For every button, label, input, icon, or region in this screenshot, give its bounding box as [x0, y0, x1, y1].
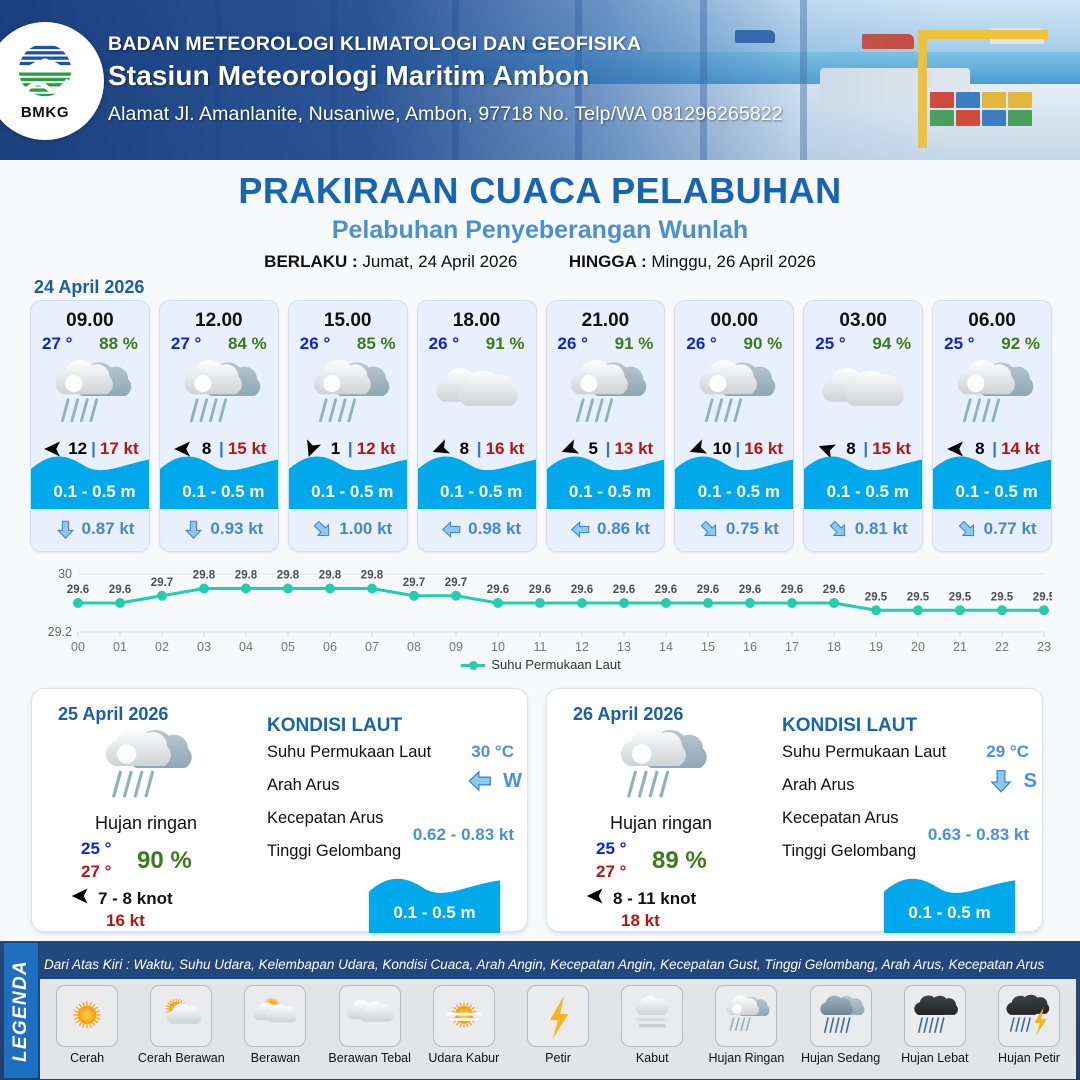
wave-height: 0.1 - 0.5 m	[31, 482, 150, 502]
hujan-sedang-icon	[814, 993, 868, 1039]
card-temperature: 27 °	[42, 334, 72, 354]
card-weather-icon	[160, 356, 278, 436]
hourly-card[interactable]: 12.0027 °84 %8|15 kt0.1 - 0.5 m0.93 kt	[159, 300, 279, 552]
legend-item: Hujan Ringan	[699, 985, 793, 1065]
svg-text:29.6: 29.6	[67, 584, 89, 596]
hujan-ringan-icon	[300, 358, 396, 434]
legend-icon-box	[433, 985, 495, 1047]
sst-value: 29 °C	[986, 742, 1029, 762]
legend-item: Berawan Tebal	[323, 985, 417, 1065]
daily-wave-height: 0.1 - 0.5 m	[347, 903, 522, 923]
sea-row-current-direction: Arah ArusS	[775, 770, 1043, 803]
svg-text:29.6: 29.6	[487, 584, 509, 596]
legend-icon-box	[904, 985, 966, 1047]
daily-condition: Hujan ringan	[32, 813, 260, 834]
wave-height: 0.1 - 0.5 m	[289, 482, 408, 502]
card-humidity: 84 %	[228, 334, 267, 354]
current-speed-label: Kecepatan Arus	[267, 809, 384, 828]
wave-height: 0.1 - 0.5 m	[547, 482, 666, 502]
legend-item: Hujan Lebat	[888, 985, 982, 1065]
current-direction-wrap: S	[988, 768, 1037, 794]
card-current: 0.98 kt	[418, 513, 537, 545]
legend-note: Dari Atas Kiri : Waktu, Suhu Udara, Kele…	[44, 957, 1074, 972]
card-temp-hum: 26 °91 %	[547, 332, 665, 354]
card-wave: 0.1 - 0.5 m	[289, 449, 408, 509]
current-speed: 0.81 kt	[855, 519, 908, 539]
svg-text:18: 18	[827, 640, 841, 654]
card-wave: 0.1 - 0.5 m	[933, 449, 1052, 509]
daily-date: 26 April 2026	[573, 704, 683, 725]
legend-item-label: Hujan Lebat	[901, 1051, 968, 1065]
sea-row-sst: Suhu Permukaan Laut29 °C	[775, 737, 1043, 770]
validity-row: BERLAKU : Jumat, 24 April 2026 HINGGA : …	[0, 252, 1080, 272]
card-current: 0.87 kt	[31, 513, 150, 545]
berawan-tebal-icon	[343, 993, 397, 1039]
card-time: 03.00	[804, 310, 922, 332]
card-wave: 0.1 - 0.5 m	[418, 449, 537, 509]
current-direction-arrow	[699, 518, 720, 541]
current-direction-arrow	[467, 768, 493, 794]
legend-item-label: Hujan Ringan	[709, 1051, 785, 1065]
hujan-lebat-icon	[908, 993, 962, 1039]
legend-item: Cerah Berawan	[134, 985, 228, 1065]
card-time: 06.00	[933, 310, 1051, 332]
svg-text:29.6: 29.6	[781, 584, 803, 596]
svg-text:29.7: 29.7	[445, 577, 467, 589]
kabut-icon	[625, 993, 679, 1039]
svg-text:16: 16	[743, 640, 757, 654]
wave-height: 0.1 - 0.5 m	[160, 482, 279, 502]
current-speed: 0.93 kt	[210, 519, 263, 539]
card-wave: 0.1 - 0.5 m	[31, 449, 150, 509]
legend-icon-box	[715, 985, 777, 1047]
berlaku-label: BERLAKU :	[264, 252, 358, 271]
daily-humidity: 89 %	[652, 847, 707, 875]
current-direction-label: Arah Arus	[267, 776, 339, 795]
berawan-tebal-icon	[429, 358, 525, 434]
legend-icon-box	[339, 985, 401, 1047]
svg-text:14: 14	[659, 640, 673, 654]
daily-sea-conditions: KONDISI LAUTSuhu Permukaan Laut29 °CArah…	[775, 715, 1043, 927]
legend-item-label: Hujan Petir	[998, 1051, 1060, 1065]
svg-text:29.5: 29.5	[1033, 591, 1052, 603]
current-speed: 0.86 kt	[597, 519, 650, 539]
legend-icon-box	[810, 985, 872, 1047]
daily-date: 25 April 2026	[58, 704, 168, 725]
page-title: PRAKIRAAN CUACA PELABUHAN	[0, 170, 1080, 212]
daily-wave-block: 0.1 - 0.5 m	[347, 871, 522, 933]
current-speed: 1.00 kt	[339, 519, 392, 539]
hourly-card[interactable]: 18.0026 °91 %8|16 kt0.1 - 0.5 m0.98 kt	[417, 300, 537, 552]
svg-text:12: 12	[575, 640, 589, 654]
hourly-card[interactable]: 15.0026 °85 %1|12 kt0.1 - 0.5 m1.00 kt	[288, 300, 408, 552]
legend-item: Hujan Sedang	[794, 985, 888, 1065]
svg-text:23: 23	[1037, 640, 1051, 654]
card-temp-hum: 26 °91 %	[418, 332, 536, 354]
header-address: Alamat Jl. Amanlanite, Nusaniwe, Ambon, …	[108, 103, 783, 126]
current-speed: 0.77 kt	[984, 519, 1037, 539]
svg-text:29.5: 29.5	[907, 591, 930, 603]
current-direction-value: W	[503, 770, 522, 793]
card-humidity: 91 %	[486, 334, 525, 354]
daily-gust: 18 kt	[621, 911, 660, 931]
svg-text:00: 00	[71, 640, 85, 654]
svg-text:29.2: 29.2	[48, 625, 72, 639]
card-temperature: 27 °	[171, 334, 201, 354]
card-current: 0.75 kt	[675, 513, 794, 545]
legend-icon-box	[998, 985, 1060, 1047]
legend-item: Cerah	[40, 985, 134, 1065]
card-humidity: 94 %	[872, 334, 911, 354]
legend-icon-box	[244, 985, 306, 1047]
svg-text:05: 05	[281, 640, 295, 654]
wave-height: 0.1 - 0.5 m	[418, 482, 537, 502]
sst-chart-legend: Suhu Permukaan Laut	[30, 657, 1052, 672]
svg-text:29.6: 29.6	[571, 584, 593, 596]
svg-text:21: 21	[953, 640, 967, 654]
card-temp-hum: 27 °88 %	[31, 332, 149, 354]
card-current: 0.81 kt	[804, 513, 923, 545]
card-time: 12.00	[160, 310, 278, 332]
svg-text:29.6: 29.6	[613, 584, 635, 596]
card-temp-hum: 26 °90 %	[675, 332, 793, 354]
legend-item-label: Kabut	[636, 1051, 669, 1065]
daily-weather-icon	[605, 725, 715, 811]
svg-text:29.8: 29.8	[361, 570, 384, 582]
svg-text:29.6: 29.6	[655, 584, 677, 596]
card-temperature: 26 °	[558, 334, 588, 354]
legend-tab: LEGENDA	[4, 943, 38, 1078]
daily-condition: Hujan ringan	[547, 813, 775, 834]
legend-item: Udara Kabur	[417, 985, 511, 1065]
wave-height: 0.1 - 0.5 m	[675, 482, 794, 502]
card-weather-icon	[804, 356, 922, 436]
legend-items: CerahCerah BerawanBerawanBerawan TebalUd…	[40, 979, 1076, 1079]
sea-row-sst: Suhu Permukaan Laut30 °C	[260, 737, 528, 770]
svg-text:29.8: 29.8	[235, 570, 258, 582]
current-direction-arrow	[957, 518, 978, 541]
legend-item-label: Berawan	[251, 1051, 300, 1065]
card-time: 00.00	[675, 310, 793, 332]
card-humidity: 92 %	[1001, 334, 1040, 354]
legend-tab-label: LEGENDA	[10, 960, 32, 1062]
sea-row-current-direction: Arah ArusW	[260, 770, 528, 803]
hujan-ringan-icon	[42, 358, 138, 434]
svg-text:01: 01	[113, 640, 127, 654]
card-temp-hum: 26 °85 %	[289, 332, 407, 354]
legend-item-label: Udara Kabur	[428, 1051, 499, 1065]
card-current: 0.93 kt	[160, 513, 279, 545]
svg-text:15: 15	[701, 640, 715, 654]
svg-text:29.7: 29.7	[151, 577, 173, 589]
legend-icon-box	[56, 985, 118, 1047]
card-temp-hum: 27 °84 %	[160, 332, 278, 354]
card-humidity: 90 %	[744, 334, 783, 354]
daily-wave-height: 0.1 - 0.5 m	[862, 903, 1037, 923]
current-direction-arrow	[988, 768, 1014, 794]
legend-item: Kabut	[605, 985, 699, 1065]
svg-text:13: 13	[617, 640, 631, 654]
card-weather-icon	[675, 356, 793, 436]
hourly-forecast-row: 09.0027 °88 %12|17 kt0.1 - 0.5 m0.87 kt1…	[30, 300, 1052, 552]
svg-text:17: 17	[785, 640, 799, 654]
svg-text:29.5: 29.5	[991, 591, 1014, 603]
svg-text:19: 19	[869, 640, 883, 654]
card-wave: 0.1 - 0.5 m	[547, 449, 666, 509]
current-direction-arrow	[55, 518, 76, 541]
sea-row-wave: Tinggi Gelombang	[775, 836, 1043, 869]
legend-item-label: Petir	[545, 1051, 571, 1065]
sst-chart: 3029.229.60029.60129.70229.80329.80429.8…	[30, 560, 1052, 680]
hujan-ringan-icon	[719, 993, 773, 1039]
wind-direction-arrow	[583, 886, 607, 906]
legend-item: Hujan Petir	[982, 985, 1076, 1065]
sea-row-current-speed: Kecepatan Arus0.62 - 0.83 kt	[260, 803, 528, 836]
legend-item: Berawan	[228, 985, 322, 1065]
header-organization: BADAN METEOROLOGI KLIMATOLOGI DAN GEOFIS…	[108, 33, 641, 56]
hourly-card[interactable]: 09.0027 °88 %12|17 kt0.1 - 0.5 m0.87 kt	[30, 300, 150, 552]
svg-text:29.5: 29.5	[865, 591, 888, 603]
hujan-ringan-icon	[90, 725, 200, 811]
svg-text:02: 02	[155, 640, 169, 654]
daily-wave-block: 0.1 - 0.5 m	[862, 871, 1037, 933]
daily-wind-arrow-wrap	[68, 886, 92, 911]
cerah-berawan-icon	[154, 993, 208, 1039]
svg-text:04: 04	[239, 640, 253, 654]
legend-item-label: Cerah	[70, 1051, 104, 1065]
hujan-ringan-icon	[605, 725, 715, 811]
hourly-date-label: 24 April 2026	[34, 277, 144, 298]
svg-text:29.8: 29.8	[277, 570, 300, 582]
current-direction-arrow	[312, 518, 333, 541]
sst-value: 30 °C	[471, 742, 514, 762]
legend-item-label: Berawan Tebal	[328, 1051, 410, 1065]
wave-height: 0.1 - 0.5 m	[804, 482, 923, 502]
wave-graphic	[347, 871, 522, 933]
current-speed: 0.98 kt	[468, 519, 521, 539]
card-temperature: 25 °	[815, 334, 845, 354]
wave-graphic	[862, 871, 1037, 933]
card-weather-icon	[289, 356, 407, 436]
current-direction-arrow	[570, 518, 591, 541]
card-weather-icon	[31, 356, 149, 436]
svg-text:30: 30	[58, 567, 72, 581]
card-current: 0.77 kt	[933, 513, 1052, 545]
hujan-ringan-icon	[686, 358, 782, 434]
berawan-tebal-icon	[815, 358, 911, 434]
current-direction-arrow	[828, 518, 849, 541]
wave-height: 0.1 - 0.5 m	[933, 482, 1052, 502]
card-humidity: 88 %	[99, 334, 138, 354]
hingga-value: Minggu, 26 April 2026	[651, 252, 815, 271]
card-weather-icon	[418, 356, 536, 436]
petir-icon	[531, 993, 585, 1039]
sea-conditions-title: KONDISI LAUT	[267, 715, 528, 737]
current-speed-label: Kecepatan Arus	[782, 809, 899, 828]
svg-text:29.6: 29.6	[697, 584, 719, 596]
sea-row-current-speed: Kecepatan Arus0.63 - 0.83 kt	[775, 803, 1043, 836]
daily-temp-min: 25 °	[596, 839, 626, 859]
hujan-ringan-icon	[944, 358, 1040, 434]
card-humidity: 91 %	[615, 334, 654, 354]
hourly-card[interactable]: 06.0025 °92 %8|14 kt0.1 - 0.5 m0.77 kt	[932, 300, 1052, 552]
card-temperature: 26 °	[300, 334, 330, 354]
daily-panel: 26 April 2026Hujan ringan25 °27 °89 %8 -…	[546, 688, 1043, 932]
daily-temp-max: 27 °	[596, 862, 626, 882]
page-header: BMKG BADAN METEOROLOGI KLIMATOLOGI DAN G…	[0, 0, 1080, 160]
legend-icon-box	[527, 985, 589, 1047]
daily-weather-icon	[90, 725, 200, 811]
svg-text:06: 06	[323, 640, 337, 654]
sst-legend-swatch	[461, 661, 485, 670]
daily-wind: 8 - 11 knot	[583, 886, 696, 911]
svg-text:29.6: 29.6	[529, 584, 551, 596]
card-temperature: 26 °	[429, 334, 459, 354]
berawan-icon	[248, 993, 302, 1039]
svg-text:29.8: 29.8	[319, 570, 342, 582]
svg-text:20: 20	[911, 640, 925, 654]
card-weather-icon	[547, 356, 665, 436]
sea-row-wave: Tinggi Gelombang	[260, 836, 528, 869]
current-direction-wrap: W	[467, 768, 522, 794]
card-time: 21.00	[547, 310, 665, 332]
page-subtitle: Pelabuhan Penyeberangan Wunlah	[0, 216, 1080, 245]
svg-text:08: 08	[407, 640, 421, 654]
card-time: 15.00	[289, 310, 407, 332]
wind-direction-arrow	[68, 886, 92, 906]
legend-icon-box	[150, 985, 212, 1047]
legend-icon-box	[621, 985, 683, 1047]
daily-temp-min: 25 °	[81, 839, 111, 859]
svg-text:22: 22	[995, 640, 1009, 654]
svg-text:09: 09	[449, 640, 463, 654]
current-speed: 0.87 kt	[82, 519, 135, 539]
wave-label: Tinggi Gelombang	[267, 842, 401, 861]
cerah-icon	[60, 993, 114, 1039]
svg-text:07: 07	[365, 640, 379, 654]
current-speed: 0.75 kt	[726, 519, 779, 539]
svg-text:11: 11	[534, 640, 547, 654]
sst-label: Suhu Permukaan Laut	[782, 743, 946, 762]
card-temperature: 25 °	[944, 334, 974, 354]
hujan-ringan-icon	[171, 358, 267, 434]
daily-sea-conditions: KONDISI LAUTSuhu Permukaan Laut30 °CArah…	[260, 715, 528, 927]
card-time: 09.00	[31, 310, 149, 332]
daily-wind-arrow-wrap	[583, 886, 607, 911]
header-station-name: Stasiun Meteorologi Maritim Ambon	[108, 60, 589, 92]
daily-wind-range: 7 - 8 knot	[98, 889, 173, 909]
svg-text:29.6: 29.6	[823, 584, 845, 596]
daily-wind: 7 - 8 knot	[68, 886, 173, 911]
udara-kabur-icon	[437, 993, 491, 1039]
wave-label: Tinggi Gelombang	[782, 842, 916, 861]
legend-item-label: Hujan Sedang	[801, 1051, 880, 1065]
card-humidity: 85 %	[357, 334, 396, 354]
svg-text:29.7: 29.7	[403, 577, 425, 589]
card-weather-icon	[933, 356, 1051, 436]
card-wave: 0.1 - 0.5 m	[804, 449, 923, 509]
card-temp-hum: 25 °94 %	[804, 332, 922, 354]
daily-humidity: 90 %	[137, 847, 192, 875]
hourly-card[interactable]: 21.0026 °91 %5|13 kt0.1 - 0.5 m0.86 kt	[546, 300, 666, 552]
svg-text:29.8: 29.8	[193, 570, 216, 582]
card-temp-hum: 25 °92 %	[933, 332, 1051, 354]
card-current: 1.00 kt	[289, 513, 408, 545]
hujan-ringan-icon	[557, 358, 653, 434]
hujan-petir-icon	[1002, 993, 1056, 1039]
card-time: 18.00	[418, 310, 536, 332]
current-direction-arrow	[183, 518, 204, 541]
svg-text:29.6: 29.6	[739, 584, 761, 596]
card-current: 0.86 kt	[547, 513, 666, 545]
current-direction-arrow	[441, 518, 462, 541]
card-temperature: 26 °	[686, 334, 716, 354]
svg-text:10: 10	[491, 640, 505, 654]
bmkg-logo-mark	[14, 41, 76, 103]
sst-legend-label: Suhu Permukaan Laut	[491, 657, 620, 672]
daily-wind-range: 8 - 11 knot	[613, 889, 696, 909]
svg-text:29.6: 29.6	[109, 584, 131, 596]
hourly-card[interactable]: 03.0025 °94 %8|15 kt0.1 - 0.5 m0.81 kt	[803, 300, 923, 552]
legend-item: Petir	[511, 985, 605, 1065]
bmkg-logo-text: BMKG	[21, 104, 69, 121]
current-direction-value: S	[1024, 770, 1037, 793]
current-direction-label: Arah Arus	[782, 776, 854, 795]
svg-text:29.5: 29.5	[949, 591, 972, 603]
daily-temp-max: 27 °	[81, 862, 111, 882]
legend-item-label: Cerah Berawan	[138, 1051, 225, 1065]
sst-label: Suhu Permukaan Laut	[267, 743, 431, 762]
daily-panel: 25 April 2026Hujan ringan25 °27 °90 %7 -…	[31, 688, 528, 932]
sst-chart-svg: 3029.229.60029.60129.70229.80329.80429.8…	[30, 560, 1052, 655]
card-wave: 0.1 - 0.5 m	[675, 449, 794, 509]
svg-text:03: 03	[197, 640, 211, 654]
berlaku-value: Jumat, 24 April 2026	[362, 252, 517, 271]
hourly-card[interactable]: 00.0026 °90 %10|16 kt0.1 - 0.5 m0.75 kt	[674, 300, 794, 552]
card-wave: 0.1 - 0.5 m	[160, 449, 279, 509]
sea-conditions-title: KONDISI LAUT	[782, 715, 1043, 737]
hingga-label: HINGGA :	[569, 252, 647, 271]
daily-gust: 16 kt	[106, 911, 145, 931]
